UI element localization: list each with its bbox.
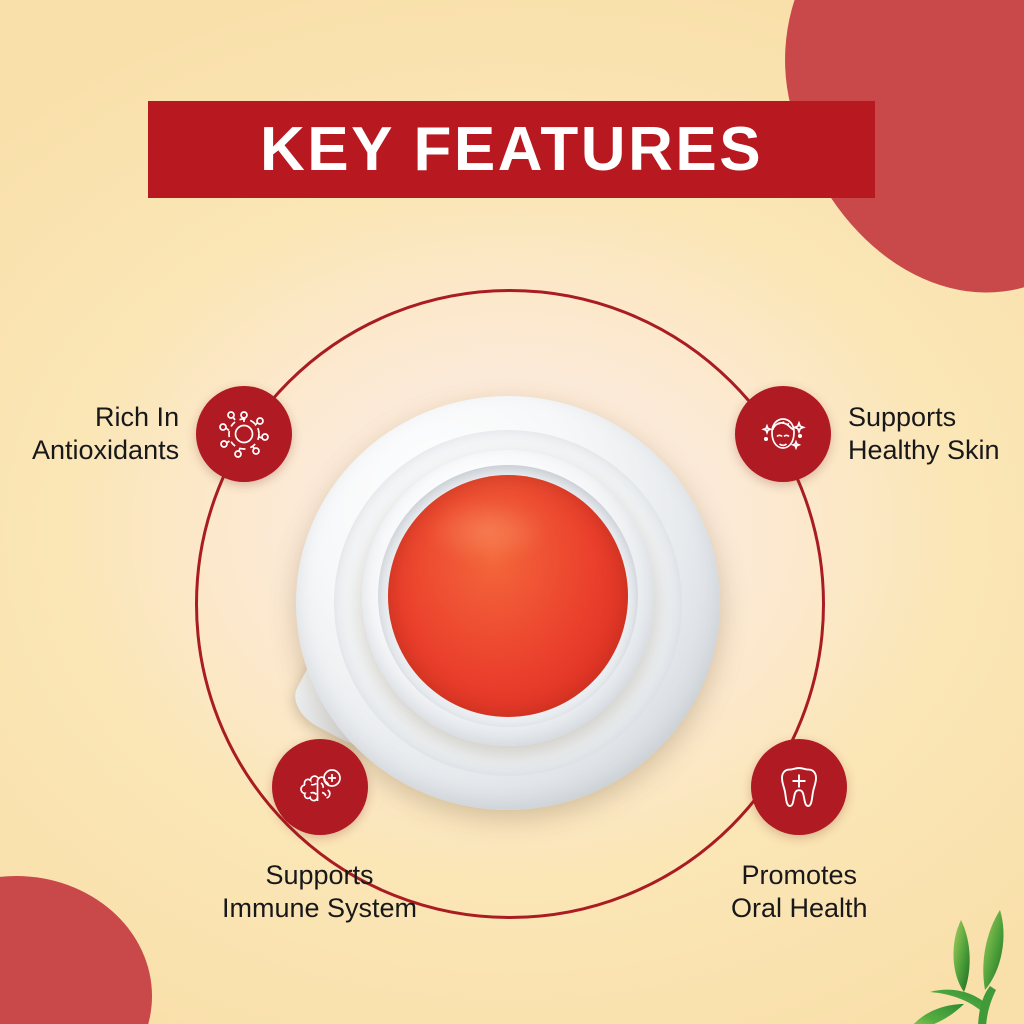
tea-leaves-decoration xyxy=(868,890,1024,1024)
feature-antioxidants-label: Rich In Antioxidants xyxy=(32,401,179,467)
feature-healthy-skin[interactable]: Supports Healthy Skin xyxy=(735,386,1000,482)
tea-highlight xyxy=(428,500,548,562)
infographic-canvas: KEY FEATURES Rich In Antioxidants xyxy=(0,0,1024,1024)
molecule-antioxidant-icon[interactable] xyxy=(196,386,292,482)
feature-oral-health-line2: Oral Health xyxy=(731,892,868,925)
feature-healthy-skin-line1: Supports xyxy=(848,401,1000,434)
feature-healthy-skin-line2: Healthy Skin xyxy=(848,434,1000,467)
feature-healthy-skin-label: Supports Healthy Skin xyxy=(848,401,1000,467)
key-features-banner: KEY FEATURES xyxy=(148,101,875,198)
feature-oral-health[interactable]: Promotes Oral Health xyxy=(731,739,868,925)
feature-oral-health-line1: Promotes xyxy=(731,859,868,892)
feature-immune-system-line2: Immune System xyxy=(222,892,417,925)
feature-antioxidants-line1: Rich In xyxy=(32,401,179,434)
feature-antioxidants-line2: Antioxidants xyxy=(32,434,179,467)
feature-immune-system[interactable]: Supports Immune System xyxy=(222,739,417,925)
glowing-face-icon[interactable] xyxy=(735,386,831,482)
brain-plus-icon[interactable] xyxy=(272,739,368,835)
feature-antioxidants[interactable]: Rich In Antioxidants xyxy=(32,386,292,482)
feature-oral-health-label: Promotes Oral Health xyxy=(731,859,868,925)
page-title: KEY FEATURES xyxy=(260,119,763,181)
feature-immune-system-line1: Supports xyxy=(222,859,417,892)
feature-immune-system-label: Supports Immune System xyxy=(222,859,417,925)
tooth-plus-icon[interactable] xyxy=(751,739,847,835)
bottom-left-blob-decoration xyxy=(0,876,152,1024)
